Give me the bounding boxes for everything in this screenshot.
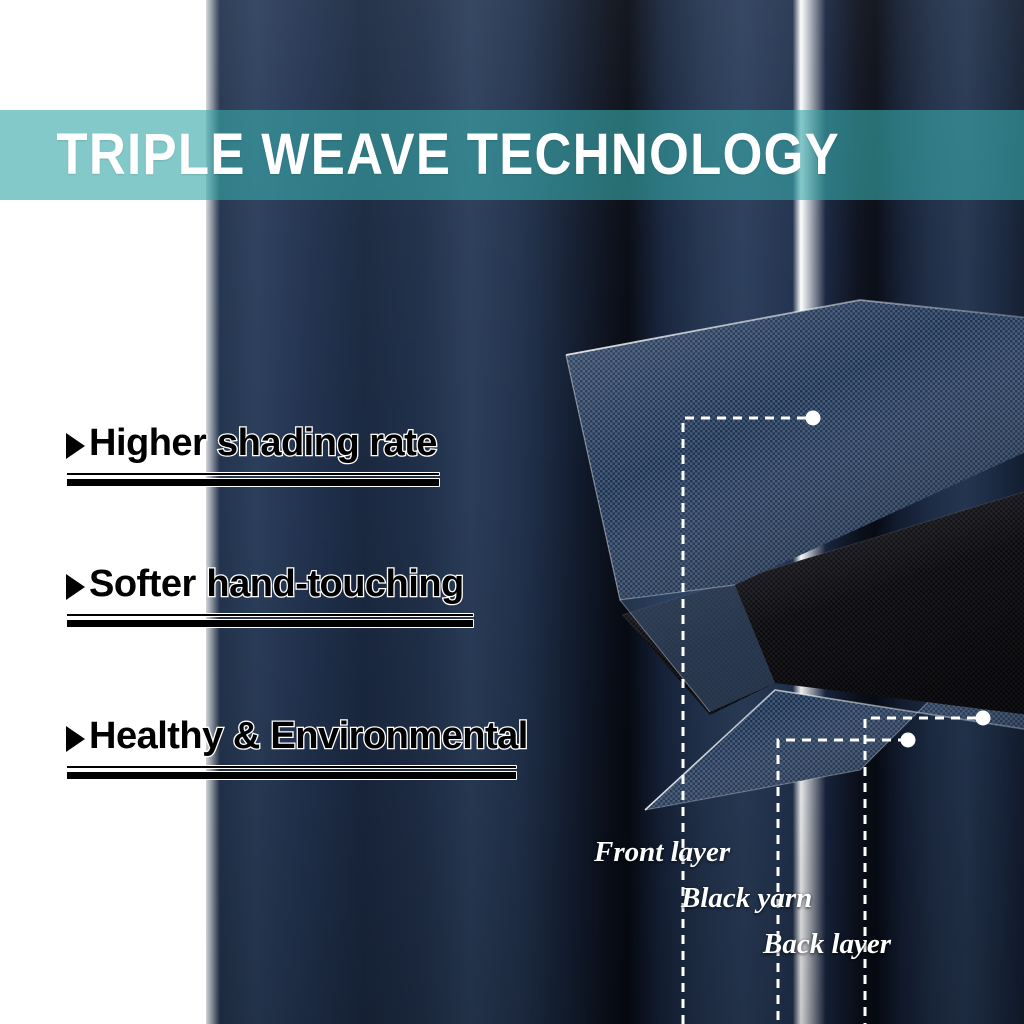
feature-label: Softerhand-touching bbox=[89, 565, 464, 603]
feature-underline bbox=[66, 765, 517, 780]
diagram-label-front-layer: Front layer bbox=[594, 838, 730, 867]
feature-item-softer-hand-touching[interactable]: Softerhand-touching bbox=[66, 565, 474, 628]
triangle-bullet-icon bbox=[66, 726, 85, 752]
feature-text-row: Healthy &Environmental bbox=[66, 717, 528, 755]
feature-underline bbox=[66, 472, 440, 487]
feature-item-healthy-environmental[interactable]: Healthy &Environmental bbox=[66, 717, 528, 780]
headline-banner: TRIPLE WEAVE TECHNOLOGY bbox=[0, 110, 1024, 200]
triple-layer-fabric-diagram bbox=[560, 300, 1024, 880]
feature-item-higher-shading-rate[interactable]: Highershading rate bbox=[66, 424, 440, 487]
diagram-label-back-layer: Back layer bbox=[763, 930, 891, 959]
triangle-bullet-icon bbox=[66, 574, 85, 600]
triangle-bullet-icon bbox=[66, 433, 85, 459]
underline-thick-bar bbox=[66, 619, 474, 628]
feature-label: Highershading rate bbox=[89, 424, 437, 462]
underline-thin-bar bbox=[66, 472, 440, 476]
product-feature-image: TRIPLE WEAVE TECHNOLOGY Highershading ra… bbox=[0, 0, 1024, 1024]
underline-thick-bar bbox=[66, 771, 517, 780]
feature-underline bbox=[66, 613, 474, 628]
underline-thin-bar bbox=[66, 613, 474, 617]
feature-text-row: Softerhand-touching bbox=[66, 565, 474, 603]
underline-thick-bar bbox=[66, 478, 440, 487]
page-title: TRIPLE WEAVE TECHNOLOGY bbox=[0, 126, 840, 184]
diagram-label-black-yarn: Black yarn bbox=[681, 884, 812, 913]
feature-text-row: Highershading rate bbox=[66, 424, 440, 462]
underline-thin-bar bbox=[66, 765, 517, 769]
feature-label: Healthy &Environmental bbox=[89, 717, 528, 755]
